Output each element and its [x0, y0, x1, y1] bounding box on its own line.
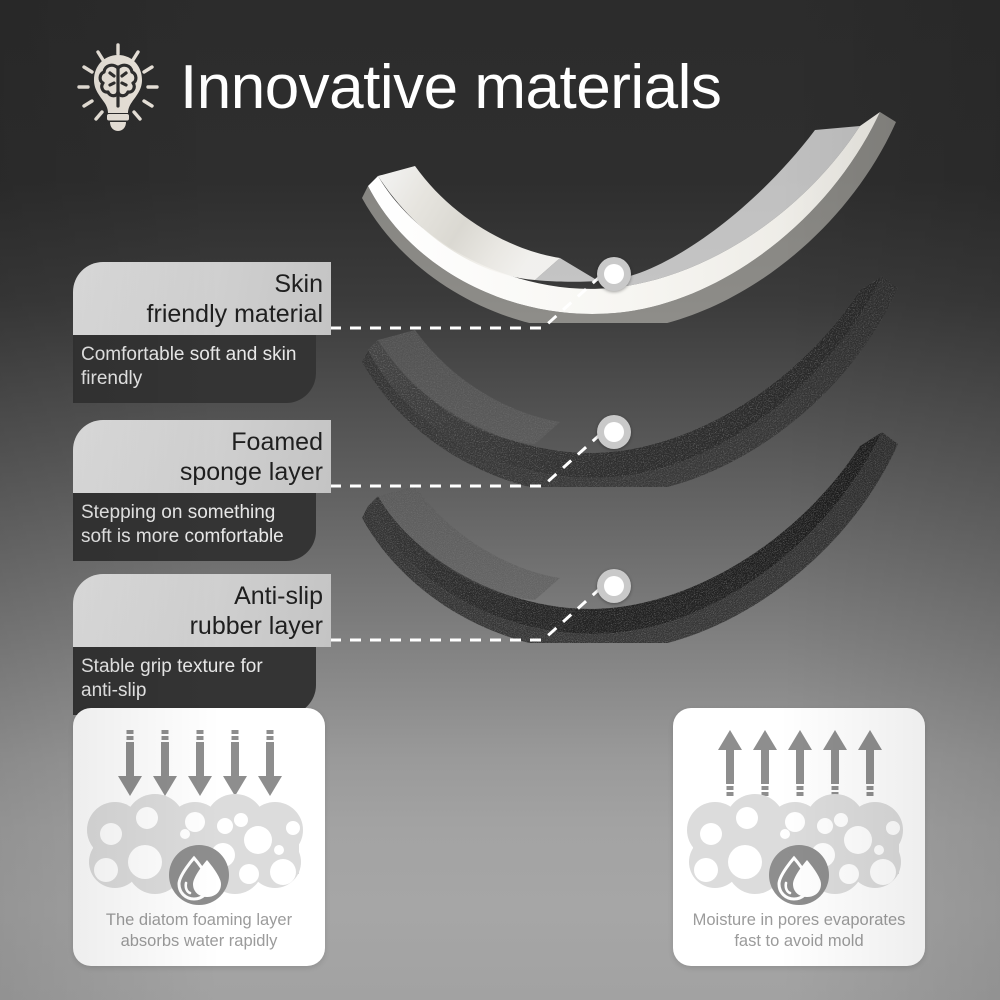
callout-title-anti-slip: Anti-slip rubber layer: [73, 574, 331, 647]
callout-body-anti-slip: Stable grip texture for anti-slip: [73, 647, 316, 715]
absorb-caption-line1: The diatom foaming layer: [83, 910, 315, 931]
callout-title-line1: Anti-slip: [87, 581, 323, 611]
lightbulb-brain-icon: [72, 42, 164, 134]
callout-title-skin-friendly: Skin friendly material: [73, 262, 331, 335]
callout-skin-friendly: Skin friendly material Comfortable soft …: [73, 262, 331, 403]
callout-title-line2: friendly material: [87, 299, 323, 329]
evaporate-figure: [673, 722, 925, 912]
anti-slip-rubber-layer: [360, 428, 920, 643]
absorb-figure: [73, 722, 325, 912]
water-drops-icon: [169, 845, 229, 905]
callout-body-skin-friendly: Comfortable soft and skin firendly: [73, 335, 316, 403]
info-card-absorb: The diatom foaming layer absorbs water r…: [73, 708, 325, 966]
evaporate-caption: Moisture in pores evaporates fast to avo…: [683, 910, 915, 952]
layer-marker-1[interactable]: [597, 257, 631, 291]
infographic-canvas: Innovative materials: [0, 0, 1000, 1000]
up-arrows: [718, 730, 882, 796]
layer-marker-2[interactable]: [597, 415, 631, 449]
callout-title-line1: Foamed: [87, 427, 323, 457]
layer-marker-3[interactable]: [597, 569, 631, 603]
callout-title-line2: sponge layer: [87, 457, 323, 487]
callout-title-line1: Skin: [87, 269, 323, 299]
callout-anti-slip: Anti-slip rubber layer Stable grip textu…: [73, 574, 331, 715]
callout-body-foamed-sponge: Stepping on something soft is more comfo…: [73, 493, 316, 561]
absorb-caption: The diatom foaming layer absorbs water r…: [83, 910, 315, 952]
down-arrows: [118, 730, 282, 796]
callout-title-foamed-sponge: Foamed sponge layer: [73, 420, 331, 493]
absorb-caption-line2: absorbs water rapidly: [83, 931, 315, 952]
evaporate-caption-line1: Moisture in pores evaporates: [683, 910, 915, 931]
evaporate-caption-line2: fast to avoid mold: [683, 931, 915, 952]
info-card-evaporate: Moisture in pores evaporates fast to avo…: [673, 708, 925, 966]
callout-title-line2: rubber layer: [87, 611, 323, 641]
callout-foamed-sponge: Foamed sponge layer Stepping on somethin…: [73, 420, 331, 561]
water-drops-icon: [769, 845, 829, 905]
